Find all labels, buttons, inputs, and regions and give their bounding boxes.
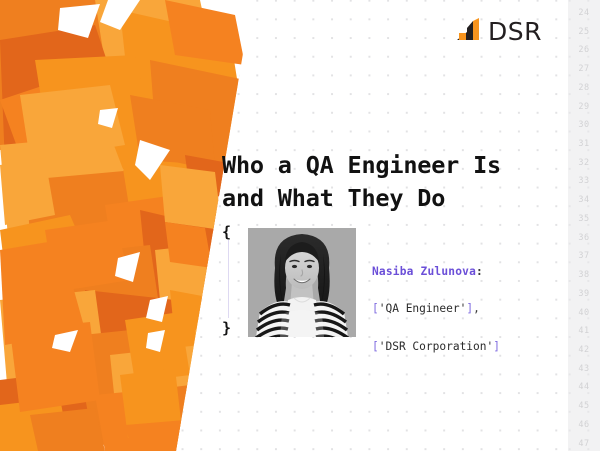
line-number: 26 [568,41,600,60]
brace-guide-line [228,240,229,318]
speaker-name-line: Nasiba Zulunova: [372,263,500,282]
close-brace: } [222,321,231,336]
speaker-portrait [248,228,356,337]
line-number: 44 [568,378,600,397]
company-value: 'DSR Corporation' [379,340,494,353]
title-line-2: and What They Do [222,182,552,215]
dsr-bars-logo-icon [457,18,482,45]
line-number: 41 [568,322,600,341]
line-number: 27 [568,60,600,79]
speaker-company-line: ['DSR Corporation'] [372,338,500,357]
speaker-role-line: ['QA Engineer'], [372,300,500,319]
open-brace: { [222,225,231,240]
role-bracket-open: [ [372,302,379,315]
line-number: 47 [568,435,600,451]
company-bracket-open: [ [372,340,379,353]
line-number: 29 [568,98,600,117]
line-number: 42 [568,341,600,360]
speaker-name: Nasiba Zulunova [372,265,476,278]
speaker-code-text: Nasiba Zulunova: ['QA Engineer'], ['DSR … [372,244,500,394]
dsr-logo-text: DSR [488,19,542,44]
line-number: 28 [568,79,600,98]
line-number: 40 [568,304,600,323]
line-number: 31 [568,135,600,154]
line-number: 30 [568,116,600,135]
line-number: 43 [568,360,600,379]
line-number: 36 [568,229,600,248]
line-number: 45 [568,397,600,416]
line-number: 24 [568,4,600,23]
page-title: Who a QA Engineer Is and What They Do [222,149,552,216]
line-number: 35 [568,210,600,229]
line-number: 46 [568,416,600,435]
company-bracket-close: ] [493,340,500,353]
line-number: 38 [568,266,600,285]
role-comma: , [473,302,480,315]
dsr-logo: DSR [457,18,542,45]
line-number-rail: 2425262728293031323334353637383940414243… [568,0,600,451]
line-number: 32 [568,154,600,173]
line-number: 34 [568,191,600,210]
role-value: 'QA Engineer' [379,302,467,315]
speaker-name-colon: : [476,265,483,278]
line-number: 37 [568,247,600,266]
slide-canvas: DSR Who a QA Engineer Is and What They D… [0,0,600,451]
line-number-list: 2425262728293031323334353637383940414243… [568,0,600,451]
line-number: 39 [568,285,600,304]
line-number: 33 [568,172,600,191]
title-line-1: Who a QA Engineer Is [222,149,552,182]
line-number: 25 [568,23,600,42]
